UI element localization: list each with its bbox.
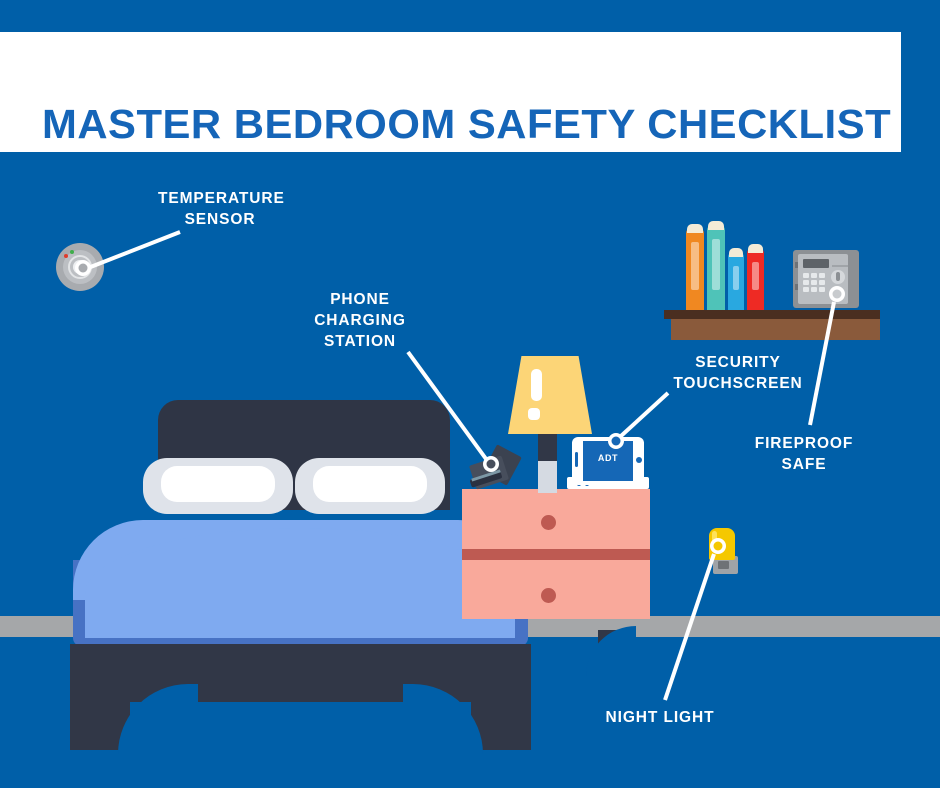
safe-keypad-key[interactable] <box>811 280 817 285</box>
shelf-top-surface <box>664 310 880 319</box>
safe-dial-pointer <box>836 272 840 281</box>
callout-fireproof-safe: FIREPROOF SAFE <box>746 433 862 475</box>
nightstand-knob-bottom[interactable] <box>541 588 556 603</box>
touchscreen-home-button[interactable] <box>636 457 642 463</box>
lamp-shade <box>508 356 592 434</box>
sensor-led-green <box>70 250 74 254</box>
callout-security-touchscreen: SECURITY TOUCHSCREEN <box>648 352 828 394</box>
pillow-right-inner <box>313 466 427 502</box>
safe-door-seam <box>832 265 848 267</box>
pillow-left-inner <box>161 466 275 502</box>
book-red-pages <box>748 244 763 253</box>
book-orange-pages <box>687 224 703 233</box>
night-light-highlight <box>712 531 717 545</box>
pillow-right <box>295 458 445 514</box>
book-teal-stripe <box>712 239 720 290</box>
touchscreen-brand-label: ADT <box>583 453 633 463</box>
page-title: MASTER BEDROOM SAFETY CHECKLIST <box>42 101 891 148</box>
safe-display-screen <box>803 259 829 268</box>
sensor-center <box>73 260 87 274</box>
lamp-stem-lower <box>538 460 557 493</box>
nightstand-knob-top[interactable] <box>541 515 556 530</box>
night-light-outlet-slot <box>718 561 729 569</box>
lamp-highlight-bar <box>531 369 542 401</box>
header-panel: MASTER BEDROOM SAFETY CHECKLIST <box>0 32 901 152</box>
safe-keypad-key[interactable] <box>819 273 825 278</box>
book-orange-stripe <box>691 242 699 290</box>
shelf-front-face <box>671 319 880 340</box>
safe-keypad-key[interactable] <box>803 287 809 292</box>
bed-base-frame <box>70 644 531 702</box>
safe-keypad-key[interactable] <box>819 287 825 292</box>
infographic-canvas: ADT <box>0 0 940 788</box>
safe-keypad-key[interactable] <box>811 273 817 278</box>
callout-temperature-sensor: TEMPERATURE SENSOR <box>158 188 282 230</box>
safe-keypad-key[interactable] <box>803 280 809 285</box>
book-teal-pages <box>708 221 724 230</box>
safe-handle[interactable] <box>831 288 843 300</box>
safe-keypad-key[interactable] <box>811 287 817 292</box>
safe-keypad-key[interactable] <box>803 273 809 278</box>
nightstand-drawer-divider <box>462 549 650 560</box>
phone-charging-station-icon[interactable] <box>470 449 518 489</box>
book-red-stripe <box>752 262 759 290</box>
pillow-left <box>143 458 293 514</box>
temperature-sensor-device[interactable] <box>56 243 104 291</box>
touchscreen-speaker <box>575 452 578 467</box>
book-blue-pages <box>729 248 743 257</box>
book-blue-stripe <box>733 266 739 290</box>
safe-keypad-key[interactable] <box>819 280 825 285</box>
lamp-highlight-dot <box>528 408 540 420</box>
lamp-stem-upper <box>538 434 557 461</box>
callout-night-light: NIGHT LIGHT <box>598 707 722 728</box>
callout-phone-charging-station: PHONE CHARGING STATION <box>300 289 420 352</box>
sensor-led-red <box>64 254 68 258</box>
